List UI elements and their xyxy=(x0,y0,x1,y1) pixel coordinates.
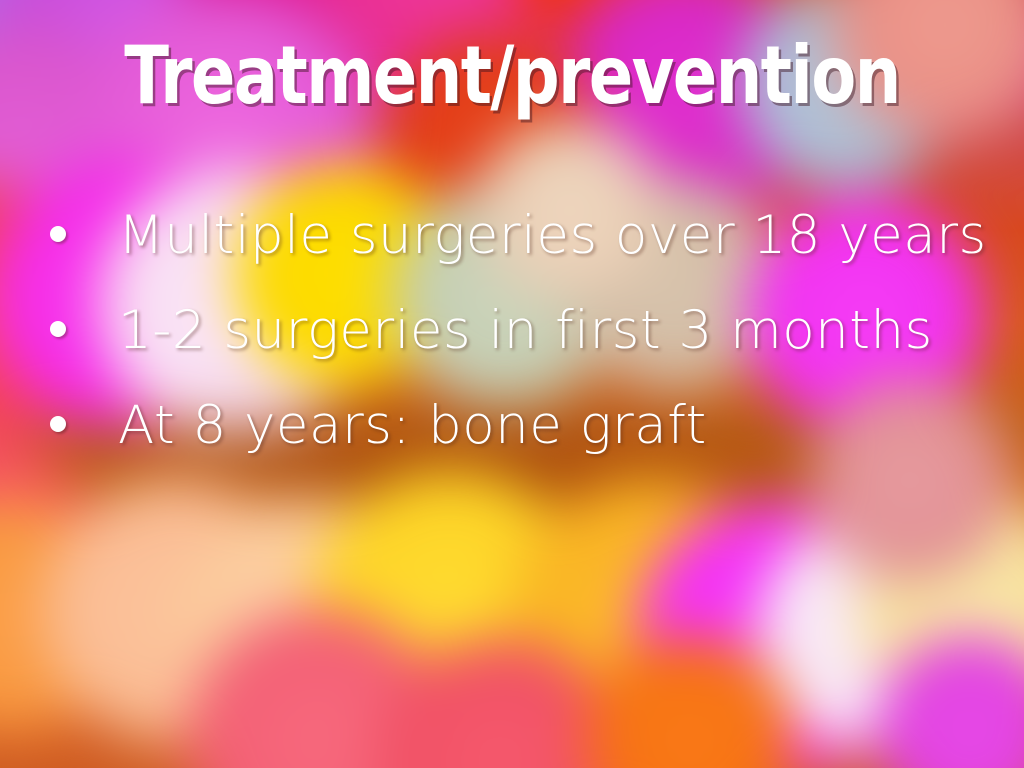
bullet-item-label: Multiple surgeries over 18 years xyxy=(118,204,1004,268)
slide-title: Treatment/prevention xyxy=(92,36,932,116)
bullet-point-icon xyxy=(50,416,66,432)
list-item: At 8 years: bone graft xyxy=(40,394,1004,489)
list-item: 1-2 surgeries in first 3 months xyxy=(40,299,1004,394)
bullet-item-label: At 8 years: bone graft xyxy=(118,394,1004,458)
bullet-point-icon xyxy=(50,321,66,337)
bullet-list: Multiple surgeries over 18 years 1-2 sur… xyxy=(40,204,1004,489)
presentation-slide: Treatment/prevention Multiple surgeries … xyxy=(0,0,1024,768)
slide-content: Treatment/prevention Multiple surgeries … xyxy=(0,0,1024,768)
list-item: Multiple surgeries over 18 years xyxy=(40,204,1004,299)
bullet-item-label: 1-2 surgeries in first 3 months xyxy=(118,299,1004,363)
bullet-point-icon xyxy=(50,226,66,242)
